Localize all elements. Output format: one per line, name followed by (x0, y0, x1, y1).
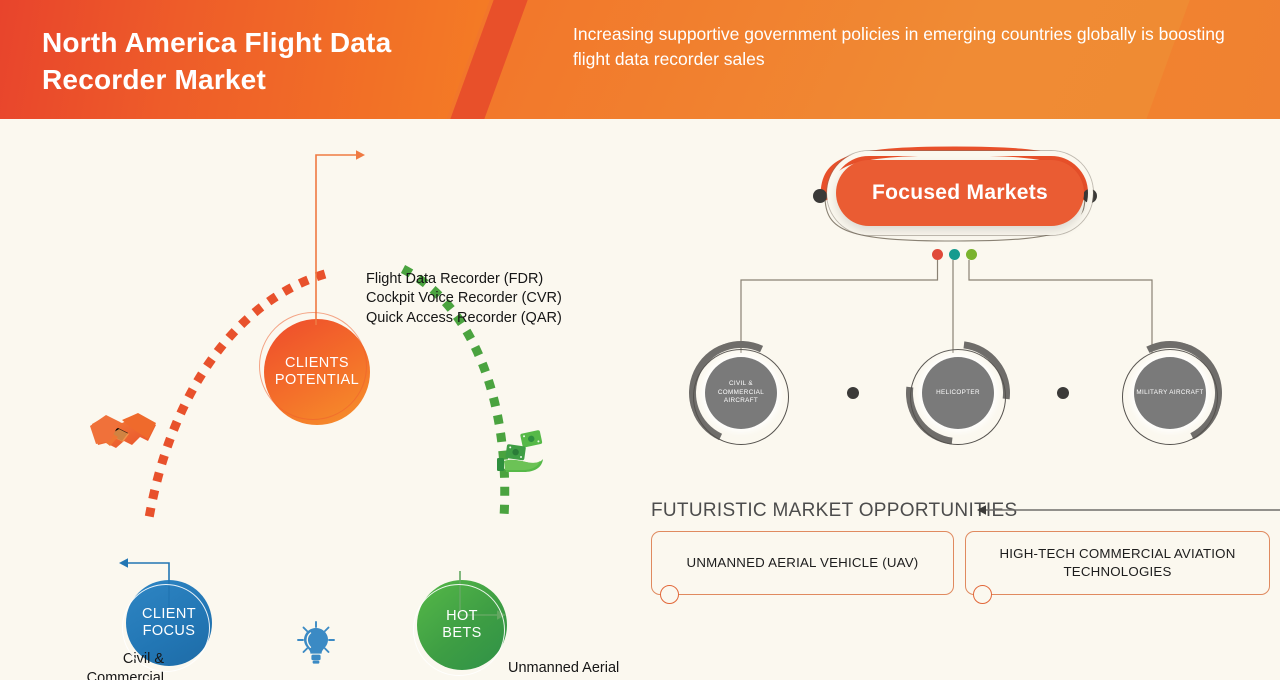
money-in-hand-icon (496, 427, 546, 475)
page-body: CLIENTS POTENTIAL Flight Data Recorder (… (0, 119, 1280, 680)
market-label: MILITARY AIRCRAFT (1134, 357, 1206, 429)
handshake-icon (88, 408, 160, 460)
node-label: CLIENTS POTENTIAL (275, 355, 359, 389)
futuristic-arrow (975, 504, 1280, 524)
page-header: North America Flight Data Recorder Marke… (0, 0, 1280, 119)
callout-client-focus: Civil & Commercial Aircraft, Military Ai… (38, 650, 164, 680)
callout-clients-potential: Flight Data Recorder (FDR) Cockpit Voice… (366, 270, 562, 328)
focused-markets-title: Focused Markets (872, 181, 1048, 205)
futuristic-label: FUTURISTIC MARKET OPPORTUNITIES (651, 500, 1017, 522)
callout-hot-bets: Unmanned Aerial Vehicle (UAV), High-tech… (508, 659, 632, 680)
page-title: North America Flight Data Recorder Marke… (42, 24, 472, 98)
node-label: HOT BETS (442, 608, 481, 642)
market-label: CIVIL & COMMERCIAL AIRCRAFT (705, 357, 777, 429)
market-civil-commercial-aircraft[interactable]: CIVIL & COMMERCIAL AIRCRAFT (689, 341, 793, 445)
separator-dot-2 (1057, 387, 1069, 399)
futuristic-box-marker-1 (660, 585, 679, 604)
market-helicopter[interactable]: HELICOPTER (906, 341, 1010, 445)
futuristic-box-hightech[interactable]: HIGH-TECH COMMERCIAL AVIATION TECHNOLOGI… (965, 531, 1270, 595)
page-subtitle: Increasing supportive government policie… (573, 22, 1243, 72)
node-label: CLIENT FOCUS (142, 606, 196, 640)
futuristic-box-marker-2 (973, 585, 992, 604)
infographic-page: North America Flight Data Recorder Marke… (0, 0, 1280, 680)
market-label: HELICOPTER (922, 357, 994, 429)
focused-markets-pill[interactable]: Focused Markets (836, 160, 1084, 226)
lightbulb-icon (297, 621, 335, 665)
separator-dot-1 (847, 387, 859, 399)
market-military-aircraft[interactable]: MILITARY AIRCRAFT (1118, 341, 1222, 445)
futuristic-box-uav[interactable]: UNMANNED AERIAL VEHICLE (UAV) (651, 531, 954, 595)
